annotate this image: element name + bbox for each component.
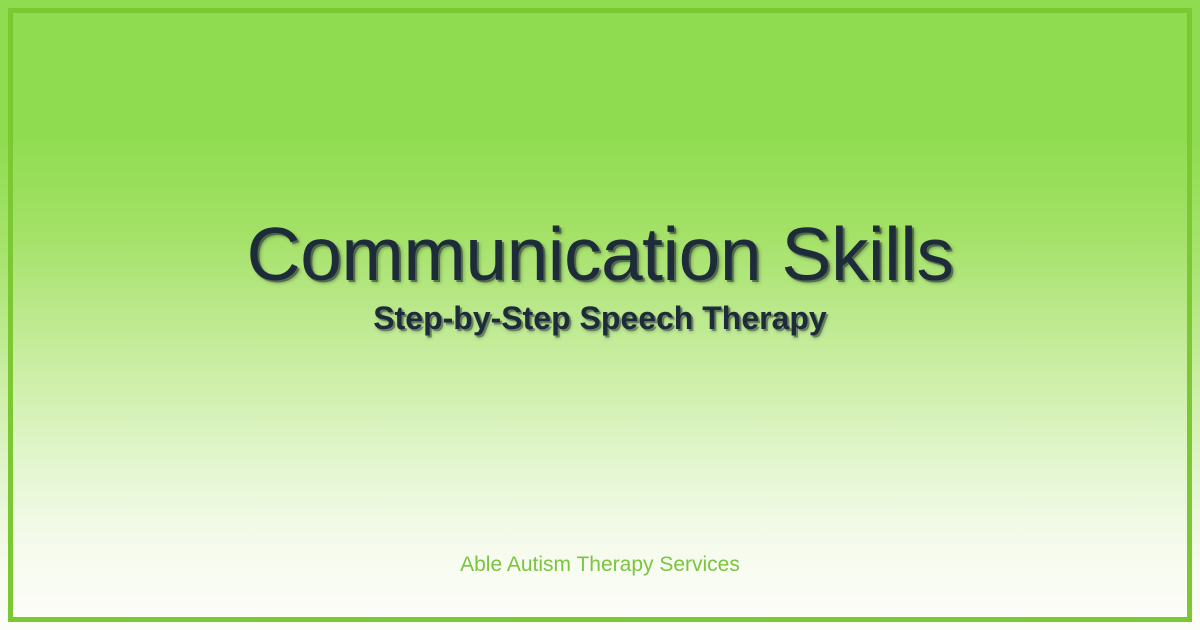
footer-block: Able Autism Therapy Services [0, 552, 1200, 578]
headline-block: Communication Skills Step-by-Step Speech… [0, 212, 1200, 338]
brand-name: Able Autism Therapy Services [0, 552, 1200, 578]
page-subtitle: Step-by-Step Speech Therapy [0, 296, 1200, 338]
page-title: Communication Skills [0, 212, 1200, 296]
poster-canvas: Communication Skills Step-by-Step Speech… [0, 0, 1200, 630]
